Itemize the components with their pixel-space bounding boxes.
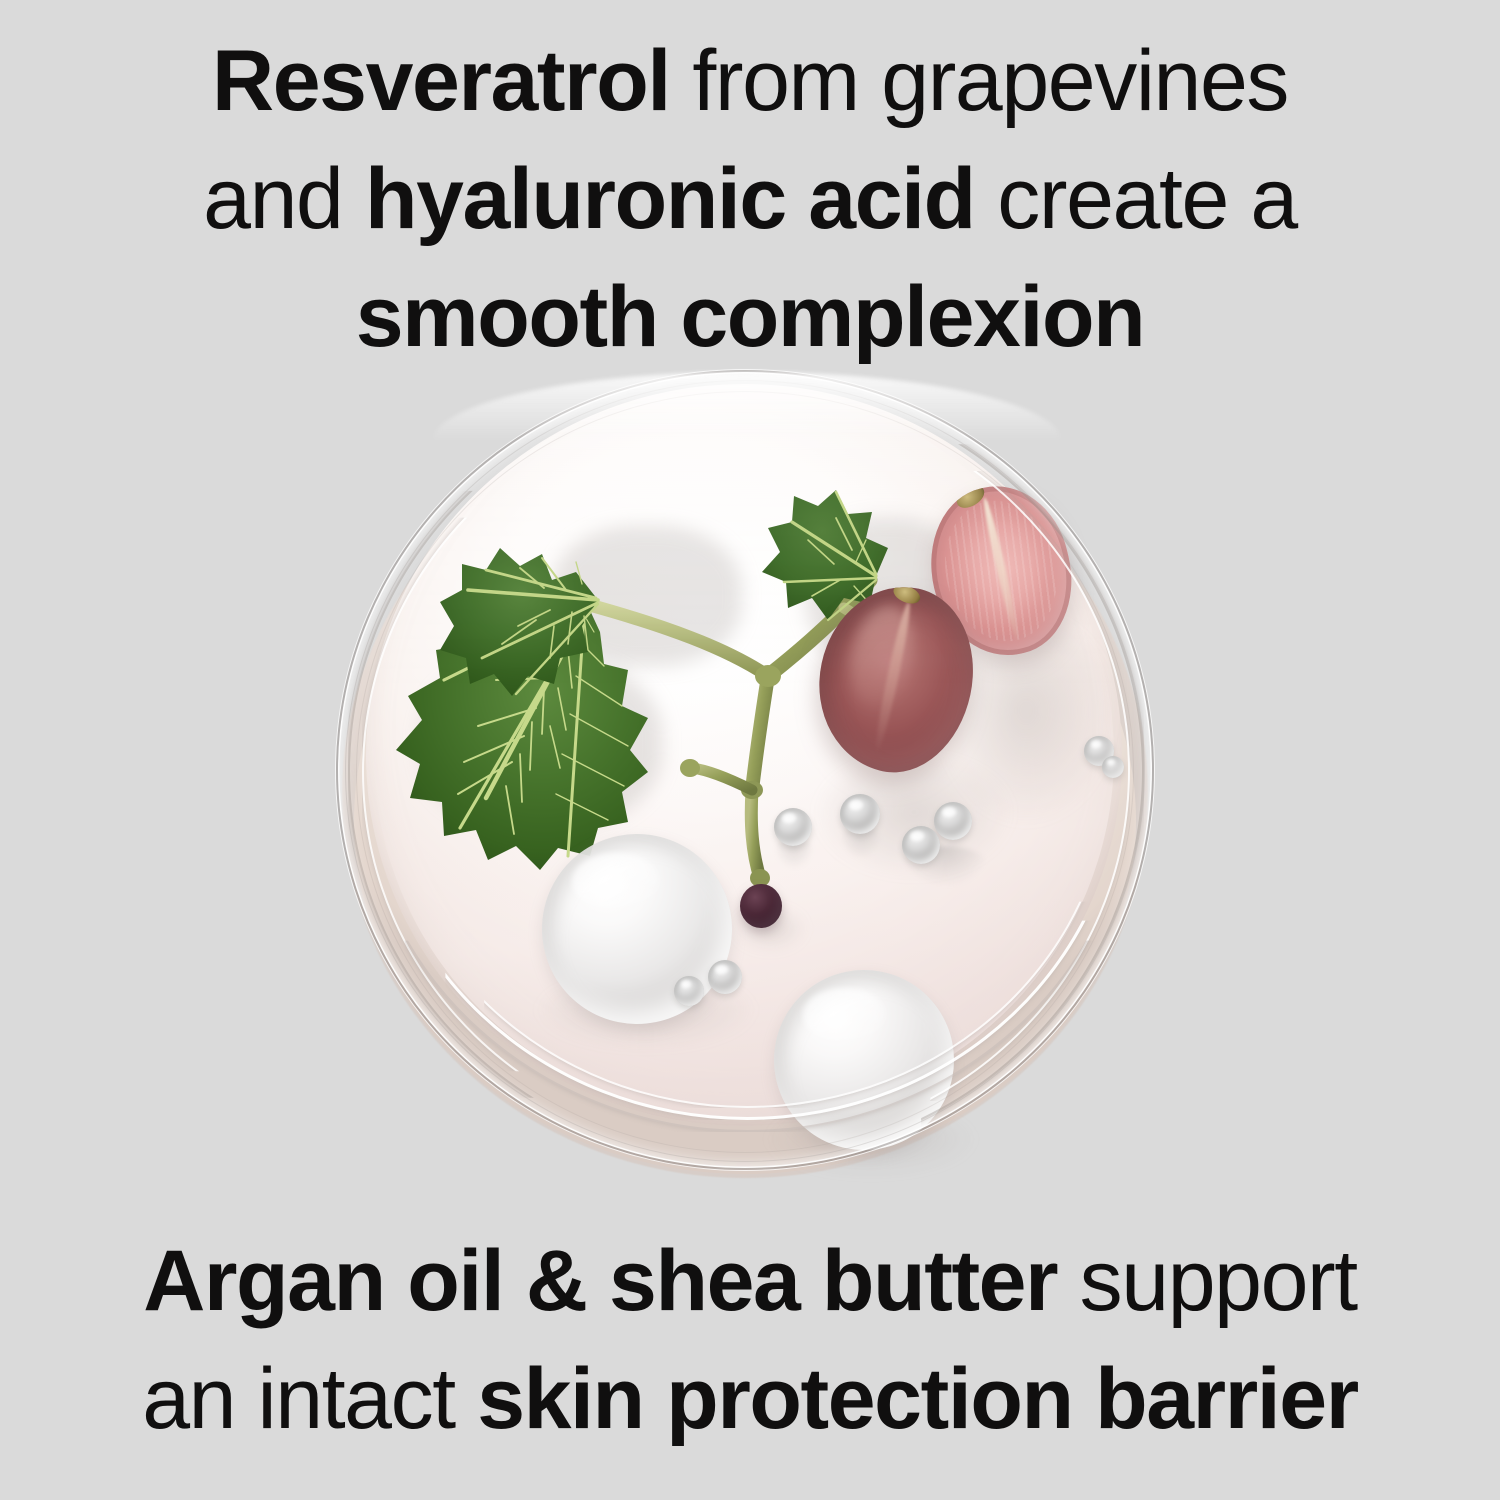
bottom-headline-line-1: Argan oil & shea butter support (0, 1222, 1500, 1340)
headline-text: and (203, 151, 365, 247)
headline-emphasis: Argan oil & shea butter (143, 1233, 1057, 1329)
bottom-headline-line-2: an intact skin protection barrier (0, 1340, 1500, 1458)
headline-text: support (1057, 1233, 1357, 1329)
headline-emphasis: skin protection barrier (477, 1351, 1358, 1447)
top-headline-line-1: Resveratrol from grapevines (0, 22, 1500, 140)
top-headline: Resveratrol from grapevines and hyaluron… (0, 22, 1500, 376)
small-gel-bead (774, 808, 812, 846)
bottom-headline: Argan oil & shea butter support an intac… (0, 1222, 1500, 1458)
headline-text: from grapevines (670, 33, 1288, 129)
headline-emphasis: hyaluronic acid (365, 151, 975, 247)
petri-dish-photo (336, 358, 1154, 1200)
headline-text: an intact (142, 1351, 477, 1447)
small-gel-bead (840, 794, 880, 834)
headline-emphasis: smooth complexion (356, 269, 1145, 365)
headline-text: create a (975, 151, 1297, 247)
top-headline-line-2: and hyaluronic acid create a (0, 140, 1500, 258)
headline-emphasis: Resveratrol (212, 33, 670, 129)
poster-canvas: Resveratrol from grapevines and hyaluron… (0, 0, 1500, 1500)
